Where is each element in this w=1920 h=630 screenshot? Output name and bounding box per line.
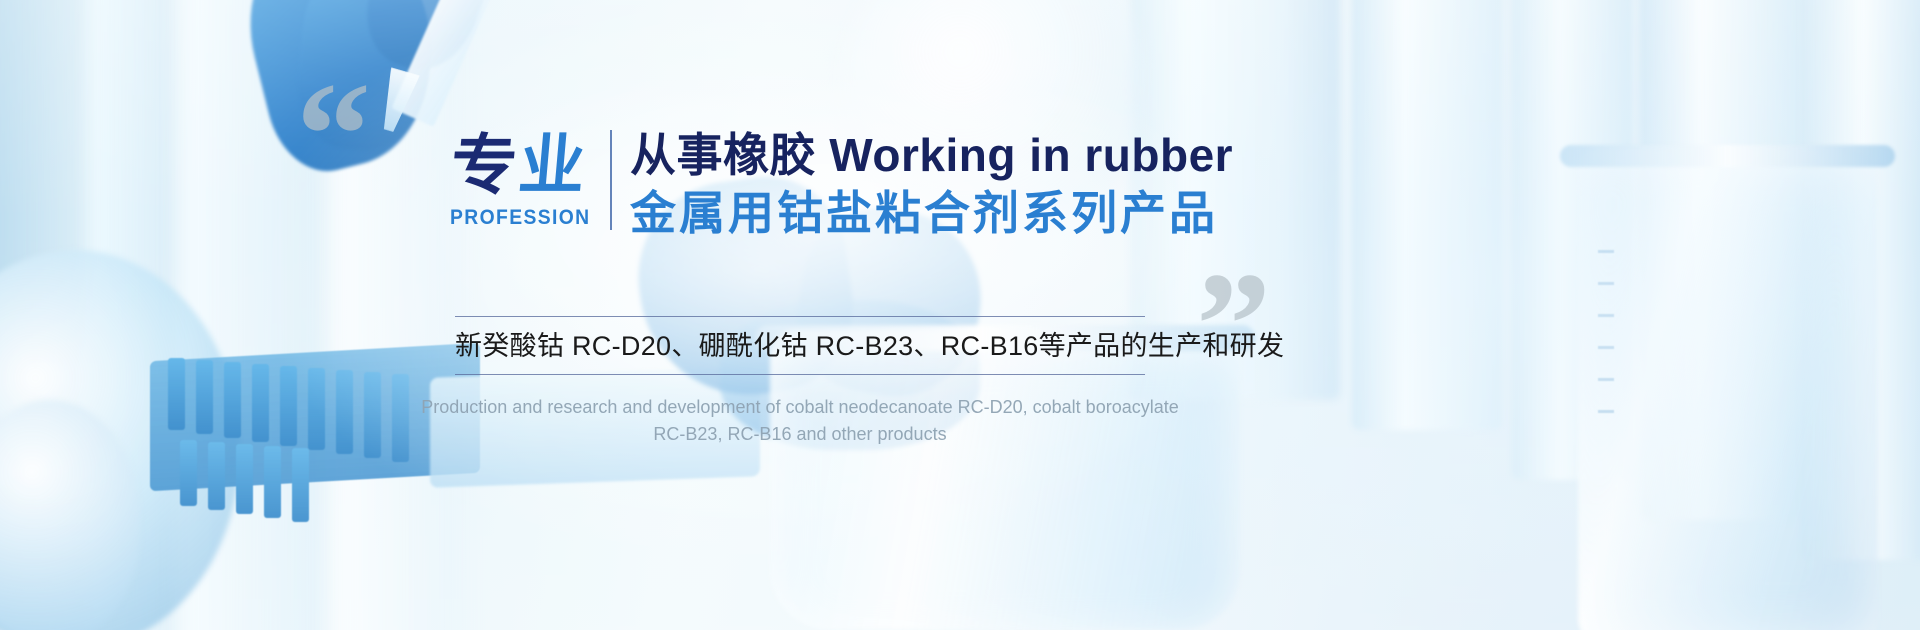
subheadline-products: 新癸酸钴 RC-D20、硼酰化钴 RC-B23、RC-B16等产品的生产和研发 — [455, 322, 1145, 370]
banner-content: “ 专业 PROFESSION 从事橡胶 Working in rubber 金… — [0, 0, 1920, 630]
profession-logo: 专业 PROFESSION — [444, 128, 594, 230]
logo-chinese-characters: 专业 — [441, 128, 597, 202]
english-description-line-1: Production and research and development … — [400, 394, 1200, 421]
divider-rule-top — [455, 316, 1145, 317]
english-description: Production and research and development … — [400, 394, 1200, 448]
divider-rule-bottom — [455, 374, 1145, 375]
vertical-divider — [610, 130, 612, 230]
promotional-banner: “ 专业 PROFESSION 从事橡胶 Working in rubber 金… — [0, 0, 1920, 630]
headline-line-2: 金属用钴盐粘合剂系列产品 — [630, 184, 1233, 242]
decorative-close-quote-icon: ” — [1196, 250, 1271, 400]
english-description-line-2: RC-B23, RC-B16 and other products — [400, 421, 1200, 448]
headline-block: 从事橡胶 Working in rubber 金属用钴盐粘合剂系列产品 — [630, 126, 1233, 242]
logo-subtitle-profession: PROFESSION — [450, 206, 588, 230]
headline-line-1: 从事橡胶 Working in rubber — [630, 126, 1233, 184]
logo-char-ye: 业 — [516, 128, 590, 202]
decorative-open-quote-icon: “ — [296, 60, 371, 210]
logo-char-zhuan: 专 — [448, 128, 522, 202]
